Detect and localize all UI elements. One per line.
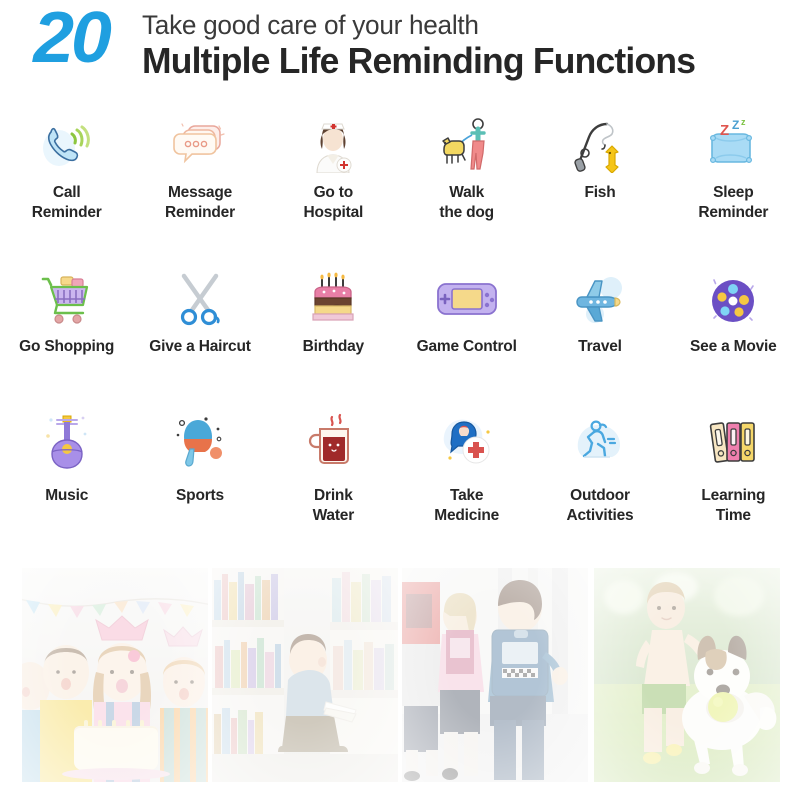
- feature-label: Sleep Reminder: [698, 183, 768, 223]
- feature-label: Call Reminder: [32, 183, 102, 223]
- feature-item-learning-time[interactable]: Learning Time: [667, 394, 800, 544]
- feature-item-message-reminder[interactable]: Message Reminder: [133, 104, 266, 246]
- feature-row: Call Reminder Message Reminder: [0, 104, 800, 246]
- feature-label: Travel: [578, 337, 622, 357]
- header-subtitle: Take good care of your health: [142, 10, 687, 40]
- gallery-photo-boy-with-dog: [594, 568, 780, 782]
- feature-label: Music: [45, 486, 88, 506]
- feature-row: Music Sports: [0, 394, 800, 544]
- feature-item-call-reminder[interactable]: Call Reminder: [0, 104, 133, 246]
- feature-label: Learning Time: [701, 486, 765, 526]
- scissors-icon: [168, 268, 232, 330]
- feature-item-go-to-hospital[interactable]: Go to Hospital: [267, 104, 400, 246]
- feature-label: Game Control: [417, 337, 517, 357]
- fishing-rod-icon: [568, 114, 632, 176]
- feature-item-outdoor-activities[interactable]: Outdoor Activities: [533, 394, 666, 544]
- feature-label: Fish: [584, 183, 615, 203]
- feature-label: Outdoor Activities: [567, 486, 634, 526]
- feature-item-see-a-movie[interactable]: See a Movie: [667, 246, 800, 394]
- birthday-cake-icon: [301, 268, 365, 330]
- svg-text:Z: Z: [720, 122, 729, 139]
- photo-gallery: [0, 566, 800, 786]
- feature-grid: Call Reminder Message Reminder: [0, 104, 800, 544]
- feature-count-number: 20: [33, 2, 109, 74]
- feature-item-fish[interactable]: Fish: [533, 104, 666, 246]
- phone-call-icon: [35, 114, 99, 176]
- feature-label: Give a Haircut: [149, 337, 250, 357]
- feature-item-birthday[interactable]: Birthday: [267, 246, 400, 394]
- feature-row: Go Shopping Give a Haircut: [0, 246, 800, 394]
- gallery-photo-library-reading: [212, 568, 398, 782]
- feature-label: Drink Water: [313, 486, 355, 526]
- feature-item-give-a-haircut[interactable]: Give a Haircut: [133, 246, 266, 394]
- feature-item-sports[interactable]: Sports: [133, 394, 266, 544]
- pillow-sleep-icon: Z Z z: [701, 114, 765, 176]
- guitar-icon: [35, 410, 99, 472]
- medical-cross-icon: [435, 410, 499, 472]
- feature-label: Go Shopping: [19, 337, 114, 357]
- svg-text:z: z: [741, 118, 746, 127]
- shopping-cart-icon: [35, 268, 99, 330]
- feature-item-drink-water[interactable]: Drink Water: [267, 394, 400, 544]
- binders-icon: [701, 410, 765, 472]
- feature-item-music[interactable]: Music: [0, 394, 133, 544]
- feature-item-take-medicine[interactable]: Take Medicine: [400, 394, 533, 544]
- feature-label: Message Reminder: [165, 183, 235, 223]
- ping-pong-icon: [168, 410, 232, 472]
- feature-item-sleep-reminder[interactable]: Z Z z Sleep Reminder: [667, 104, 800, 246]
- header-title: Multiple Life Reminding Functions: [142, 41, 695, 81]
- feature-label: Go to Hospital: [304, 183, 364, 223]
- gallery-photo-school-walk: [402, 568, 588, 782]
- feature-item-game-control[interactable]: Game Control: [400, 246, 533, 394]
- gallery-photo-birthday-party: [22, 568, 208, 782]
- handheld-console-icon: [435, 268, 499, 330]
- feature-label: Birthday: [303, 337, 364, 357]
- feature-label: Take Medicine: [434, 486, 499, 526]
- dog-walker-icon: [435, 114, 499, 176]
- speech-bubble-icon: [168, 114, 232, 176]
- feature-item-go-shopping[interactable]: Go Shopping: [0, 246, 133, 394]
- header-banner: 20 Take good care of your health Multipl…: [0, 0, 800, 100]
- feature-label: See a Movie: [690, 337, 777, 357]
- feature-label: Sports: [176, 486, 224, 506]
- feature-label: Walk the dog: [439, 183, 494, 223]
- svg-text:Z: Z: [732, 118, 739, 132]
- running-person-icon: [568, 410, 632, 472]
- airplane-icon: [568, 268, 632, 330]
- drink-cup-icon: [301, 410, 365, 472]
- film-reel-icon: [701, 268, 765, 330]
- feature-item-travel[interactable]: Travel: [533, 246, 666, 394]
- header-text-block: Take good care of your health Multiple L…: [142, 10, 704, 81]
- nurse-icon: [301, 114, 365, 176]
- feature-item-walk-the-dog[interactable]: Walk the dog: [400, 104, 533, 246]
